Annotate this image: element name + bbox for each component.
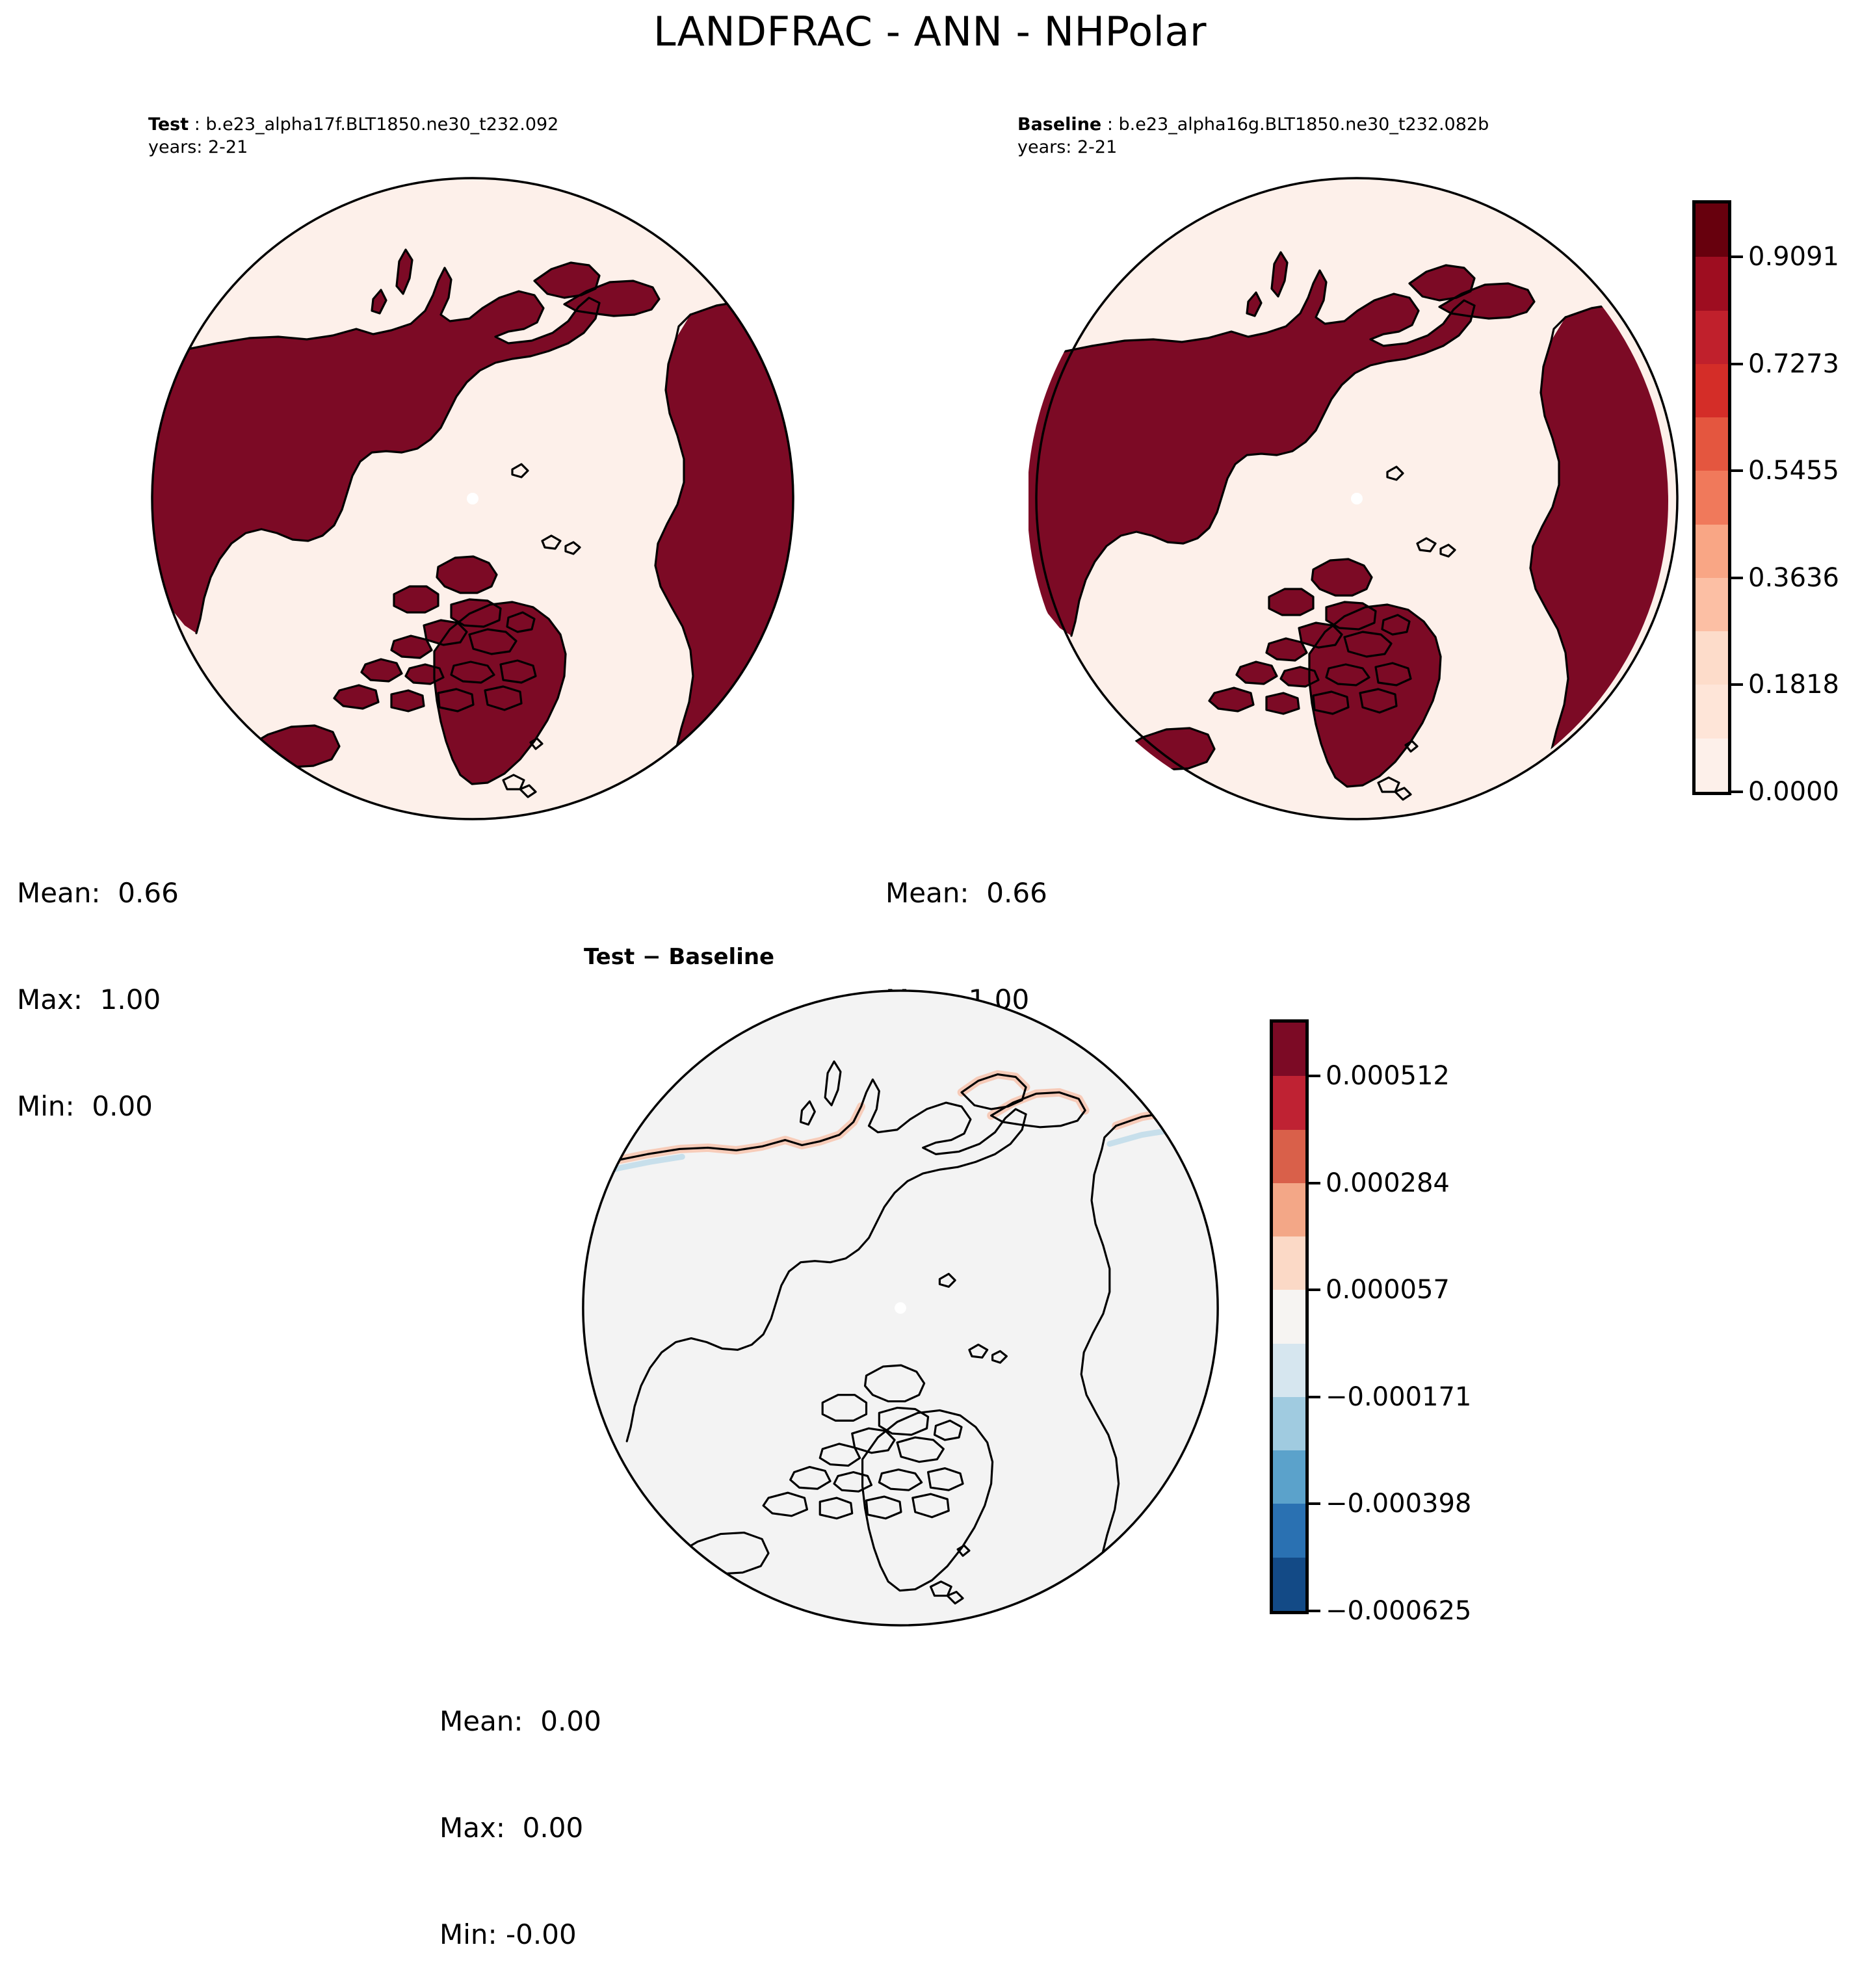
difference-colorbar-band-8 — [1273, 1450, 1305, 1504]
landfrac-colorbar-band-2 — [1696, 311, 1728, 364]
map-baseline-pole-marker — [1351, 493, 1363, 504]
difference-stats: Mean: 0.00 Max: 0.00 Min: -0.00 — [439, 1633, 601, 1988]
baseline-stats-mean: Mean: 0.66 — [885, 876, 1047, 911]
landfrac-colorbar-band-6 — [1696, 525, 1728, 578]
landfrac-colorbar-band-3 — [1696, 364, 1728, 417]
difference-colorbar-band-3 — [1273, 1183, 1305, 1236]
difference-colorbar-tick-0 — [1309, 1075, 1320, 1077]
difference-colorbar-band-4 — [1273, 1236, 1305, 1290]
test-panel-years: years: 2-21 — [148, 136, 558, 159]
test-stats-mean: Mean: 0.66 — [17, 876, 179, 911]
difference-colorbar-tick-3 — [1309, 1396, 1320, 1398]
difference-stats-min: Min: -0.00 — [439, 1917, 601, 1953]
landfrac-colorbar-tick-2 — [1731, 469, 1743, 472]
map-test-pole-marker — [467, 493, 478, 504]
difference-colorbar-tick-label-5: −0.000625 — [1326, 1598, 1471, 1624]
landfrac-colorbar-tick-label-1: 0.7273 — [1748, 351, 1839, 377]
map-baseline[interactable] — [1028, 170, 1685, 827]
difference-colorbar[interactable]: 0.0005120.0002840.000057−0.000171−0.0003… — [1268, 1014, 1489, 1619]
landfrac-colorbar-tick-label-4: 0.1818 — [1748, 672, 1839, 698]
test-panel-label: Test — [148, 114, 189, 135]
landfrac-colorbar-tick-5 — [1731, 791, 1743, 793]
landfrac-colorbar-tick-0 — [1731, 255, 1743, 258]
difference-colorbar-band-2 — [1273, 1130, 1305, 1183]
difference-colorbar-tick-label-2: 0.000057 — [1326, 1277, 1450, 1303]
test-panel-separator: : — [189, 114, 205, 135]
test-panel-header: Test : b.e23_alpha17f.BLT1850.ne30_t232.… — [148, 113, 558, 159]
landfrac-colorbar-gradient — [1692, 200, 1731, 795]
landfrac-colorbar-tick-label-2: 0.5455 — [1748, 458, 1839, 484]
landfrac-colorbar-band-10 — [1696, 739, 1728, 792]
landfrac-colorbar-tick-label-0: 0.9091 — [1748, 244, 1839, 270]
landfrac-colorbar-tick-1 — [1731, 363, 1743, 365]
difference-colorbar-band-7 — [1273, 1397, 1305, 1450]
test-panel-case-name: b.e23_alpha17f.BLT1850.ne30_t232.092 — [205, 114, 558, 135]
map-baseline-canvas — [1028, 170, 1685, 827]
landfrac-colorbar-band-0 — [1696, 203, 1728, 257]
baseline-panel-header: Baseline : b.e23_alpha16g.BLT1850.ne30_t… — [1017, 113, 1489, 159]
difference-colorbar-band-6 — [1273, 1344, 1305, 1397]
test-panel-case-line: Test : b.e23_alpha17f.BLT1850.ne30_t232.… — [148, 113, 558, 136]
test-stats: Mean: 0.66 Max: 1.00 Min: 0.00 — [17, 805, 179, 1160]
difference-stats-mean: Mean: 0.00 — [439, 1704, 601, 1740]
landfrac-colorbar[interactable]: 0.90910.72730.54550.36360.18180.0000 — [1690, 195, 1859, 800]
baseline-panel-case-name: b.e23_alpha16g.BLT1850.ne30_t232.082b — [1119, 114, 1489, 135]
difference-colorbar-tick-1 — [1309, 1182, 1320, 1184]
difference-colorbar-tick-label-1: 0.000284 — [1326, 1170, 1450, 1196]
difference-colorbar-band-9 — [1273, 1504, 1305, 1557]
landfrac-colorbar-tick-label-5: 0.0000 — [1748, 779, 1839, 805]
landfrac-colorbar-band-9 — [1696, 685, 1728, 738]
map-difference[interactable] — [575, 983, 1225, 1633]
test-stats-min: Min: 0.00 — [17, 1089, 179, 1125]
landfrac-colorbar-band-5 — [1696, 471, 1728, 524]
baseline-panel-separator: : — [1101, 114, 1118, 135]
page-title: LANDFRAC - ANN - NHPolar — [0, 12, 1860, 52]
baseline-panel-years: years: 2-21 — [1017, 136, 1489, 159]
difference-colorbar-band-1 — [1273, 1076, 1305, 1129]
difference-colorbar-tick-4 — [1309, 1502, 1320, 1505]
landfrac-colorbar-band-8 — [1696, 631, 1728, 685]
difference-colorbar-tick-2 — [1309, 1288, 1320, 1291]
difference-stats-max: Max: 0.00 — [439, 1811, 601, 1846]
difference-colorbar-tick-label-3: −0.000171 — [1326, 1384, 1471, 1410]
map-test-canvas — [144, 170, 801, 827]
difference-colorbar-gradient — [1270, 1019, 1309, 1614]
landfrac-colorbar-tick-4 — [1731, 683, 1743, 686]
landfrac-colorbar-band-4 — [1696, 417, 1728, 471]
test-stats-max: Max: 1.00 — [17, 982, 179, 1018]
baseline-panel-case-line: Baseline : b.e23_alpha16g.BLT1850.ne30_t… — [1017, 113, 1489, 136]
landfrac-colorbar-band-1 — [1696, 257, 1728, 310]
difference-colorbar-tick-label-0: 0.000512 — [1326, 1063, 1450, 1089]
difference-colorbar-band-5 — [1273, 1290, 1305, 1343]
map-difference-pole-marker — [895, 1302, 906, 1314]
difference-colorbar-band-10 — [1273, 1558, 1305, 1611]
baseline-panel-label: Baseline — [1017, 114, 1101, 135]
difference-colorbar-tick-5 — [1309, 1610, 1320, 1612]
difference-colorbar-band-0 — [1273, 1023, 1305, 1076]
map-test[interactable] — [144, 170, 801, 827]
landfrac-colorbar-tick-3 — [1731, 577, 1743, 579]
landfrac-colorbar-band-7 — [1696, 578, 1728, 631]
map-difference-canvas — [575, 983, 1225, 1633]
difference-colorbar-tick-label-4: −0.000398 — [1326, 1491, 1471, 1517]
diff-panel-title: Test − Baseline — [584, 944, 774, 970]
landfrac-colorbar-tick-label-3: 0.3636 — [1748, 565, 1839, 591]
